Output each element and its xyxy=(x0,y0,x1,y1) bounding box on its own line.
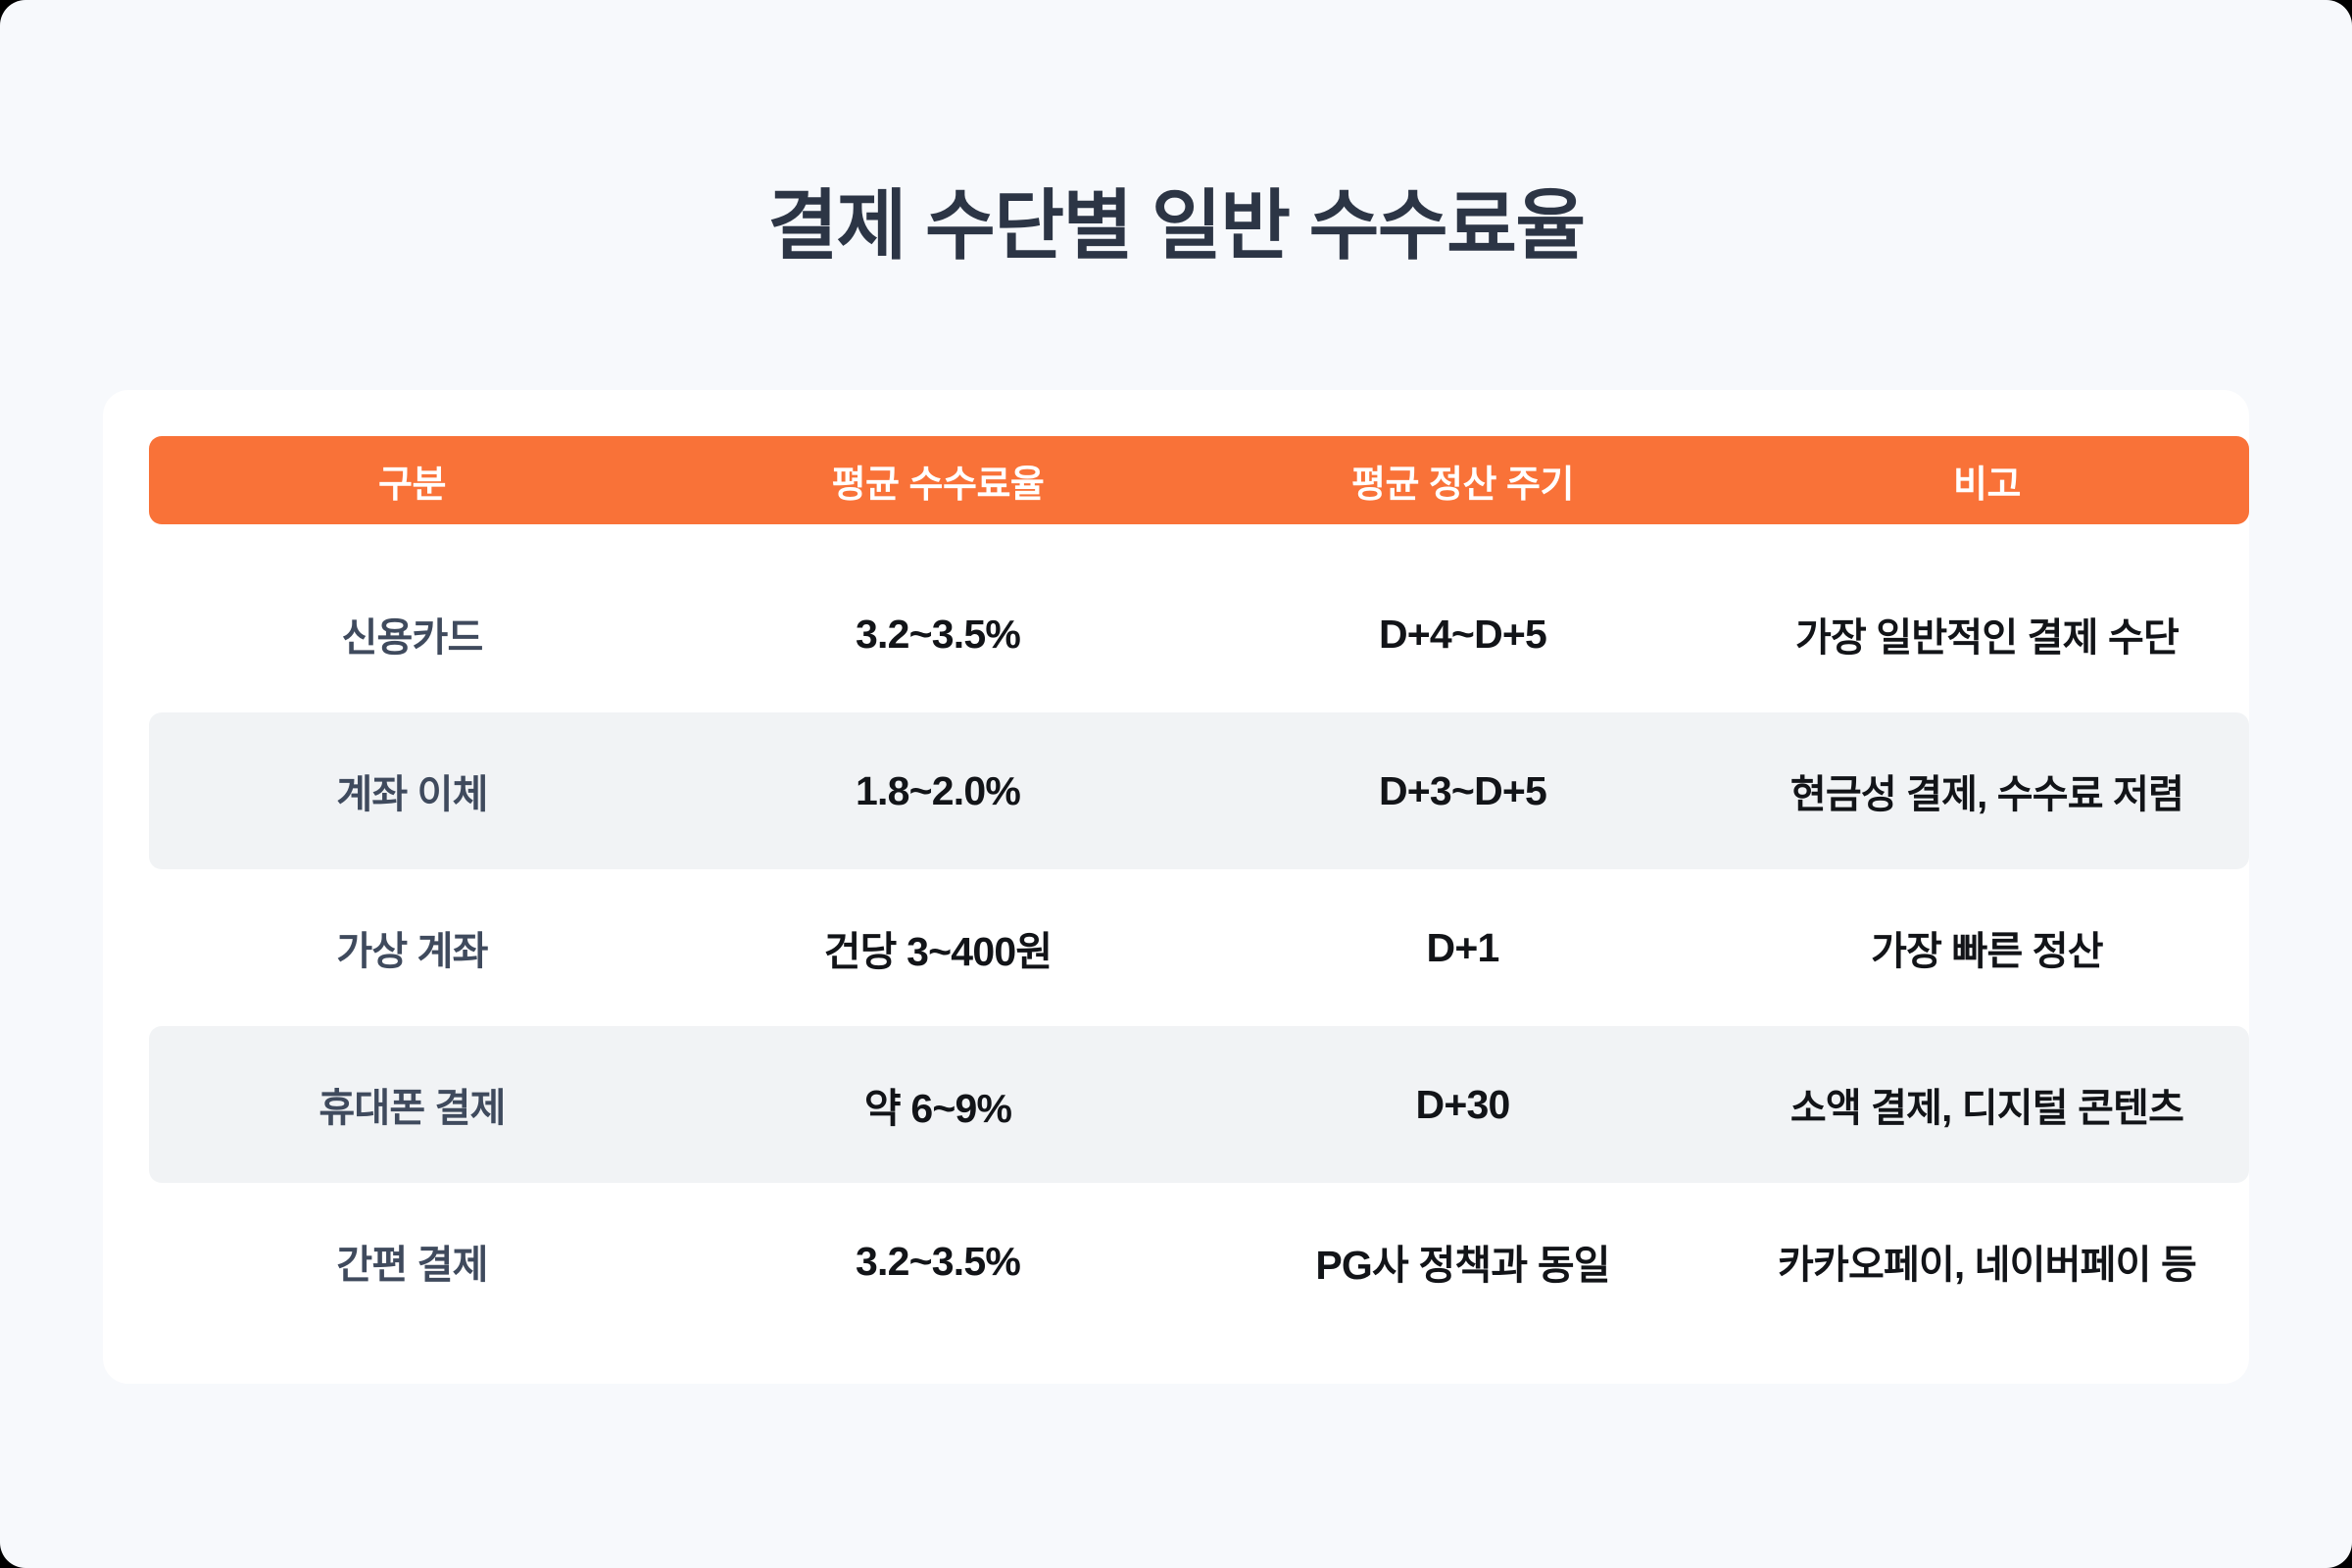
cell-fee-rate: 3.2~3.5% xyxy=(675,612,1200,658)
cell-fee-rate: 건당 3~400원 xyxy=(675,918,1200,977)
cell-settlement-cycle: D+3~D+5 xyxy=(1200,768,1725,814)
table-row: 휴대폰 결제 약 6~9% D+30 소액 결제, 디지털 콘텐츠 xyxy=(149,1026,2249,1183)
cell-settlement-cycle: D+4~D+5 xyxy=(1200,612,1725,658)
table-row: 신용카드 3.2~3.5% D+4~D+5 가장 일반적인 결제 수단 xyxy=(149,556,2249,712)
cell-fee-rate: 3.2~3.5% xyxy=(675,1239,1200,1285)
cell-method: 계좌 이체 xyxy=(149,762,675,819)
cell-method: 간편 결제 xyxy=(149,1233,675,1290)
page-title: 결제 수단별 일반 수수료율 xyxy=(0,180,2352,272)
cell-remarks: 가장 빠른 정산 xyxy=(1725,919,2249,976)
cell-method: 신용카드 xyxy=(149,606,675,662)
cell-remarks: 카카오페이, 네이버페이 등 xyxy=(1725,1233,2249,1290)
cell-remarks: 현금성 결제, 수수료 저렴 xyxy=(1725,762,2249,819)
fee-table-card: 구분 평균 수수료율 평균 정산 주기 비고 신용카드 3.2~3.5% D+4… xyxy=(103,390,2249,1384)
cell-remarks: 소액 결제, 디지털 콘텐츠 xyxy=(1725,1076,2249,1133)
table-header-row: 구분 평균 수수료율 평균 정산 주기 비고 xyxy=(149,436,2249,524)
column-header-average-settlement-cycle: 평균 정산 주기 xyxy=(1200,454,1725,508)
cell-settlement-cycle: D+1 xyxy=(1200,925,1725,971)
table-row: 가상 계좌 건당 3~400원 D+1 가장 빠른 정산 xyxy=(149,869,2249,1026)
fee-table: 구분 평균 수수료율 평균 정산 주기 비고 신용카드 3.2~3.5% D+4… xyxy=(149,436,2249,1340)
cell-method: 휴대폰 결제 xyxy=(149,1076,675,1133)
cell-settlement-cycle: D+30 xyxy=(1200,1082,1725,1128)
table-row: 계좌 이체 1.8~2.0% D+3~D+5 현금성 결제, 수수료 저렴 xyxy=(149,712,2249,869)
column-header-category: 구분 xyxy=(149,454,675,508)
cell-remarks: 가장 일반적인 결제 수단 xyxy=(1725,606,2249,662)
cell-fee-rate: 1.8~2.0% xyxy=(675,768,1200,814)
column-header-average-fee-rate: 평균 수수료율 xyxy=(675,454,1200,508)
cell-method: 가상 계좌 xyxy=(149,919,675,976)
page-root: 결제 수단별 일반 수수료율 구분 평균 수수료율 평균 정산 주기 비고 신용… xyxy=(0,0,2352,1568)
table-row: 간편 결제 3.2~3.5% PG사 정책과 동일 카카오페이, 네이버페이 등 xyxy=(149,1183,2249,1340)
column-header-remarks: 비고 xyxy=(1725,454,2249,508)
cell-settlement-cycle: PG사 정책과 동일 xyxy=(1200,1232,1725,1291)
cell-fee-rate: 약 6~9% xyxy=(675,1075,1200,1134)
